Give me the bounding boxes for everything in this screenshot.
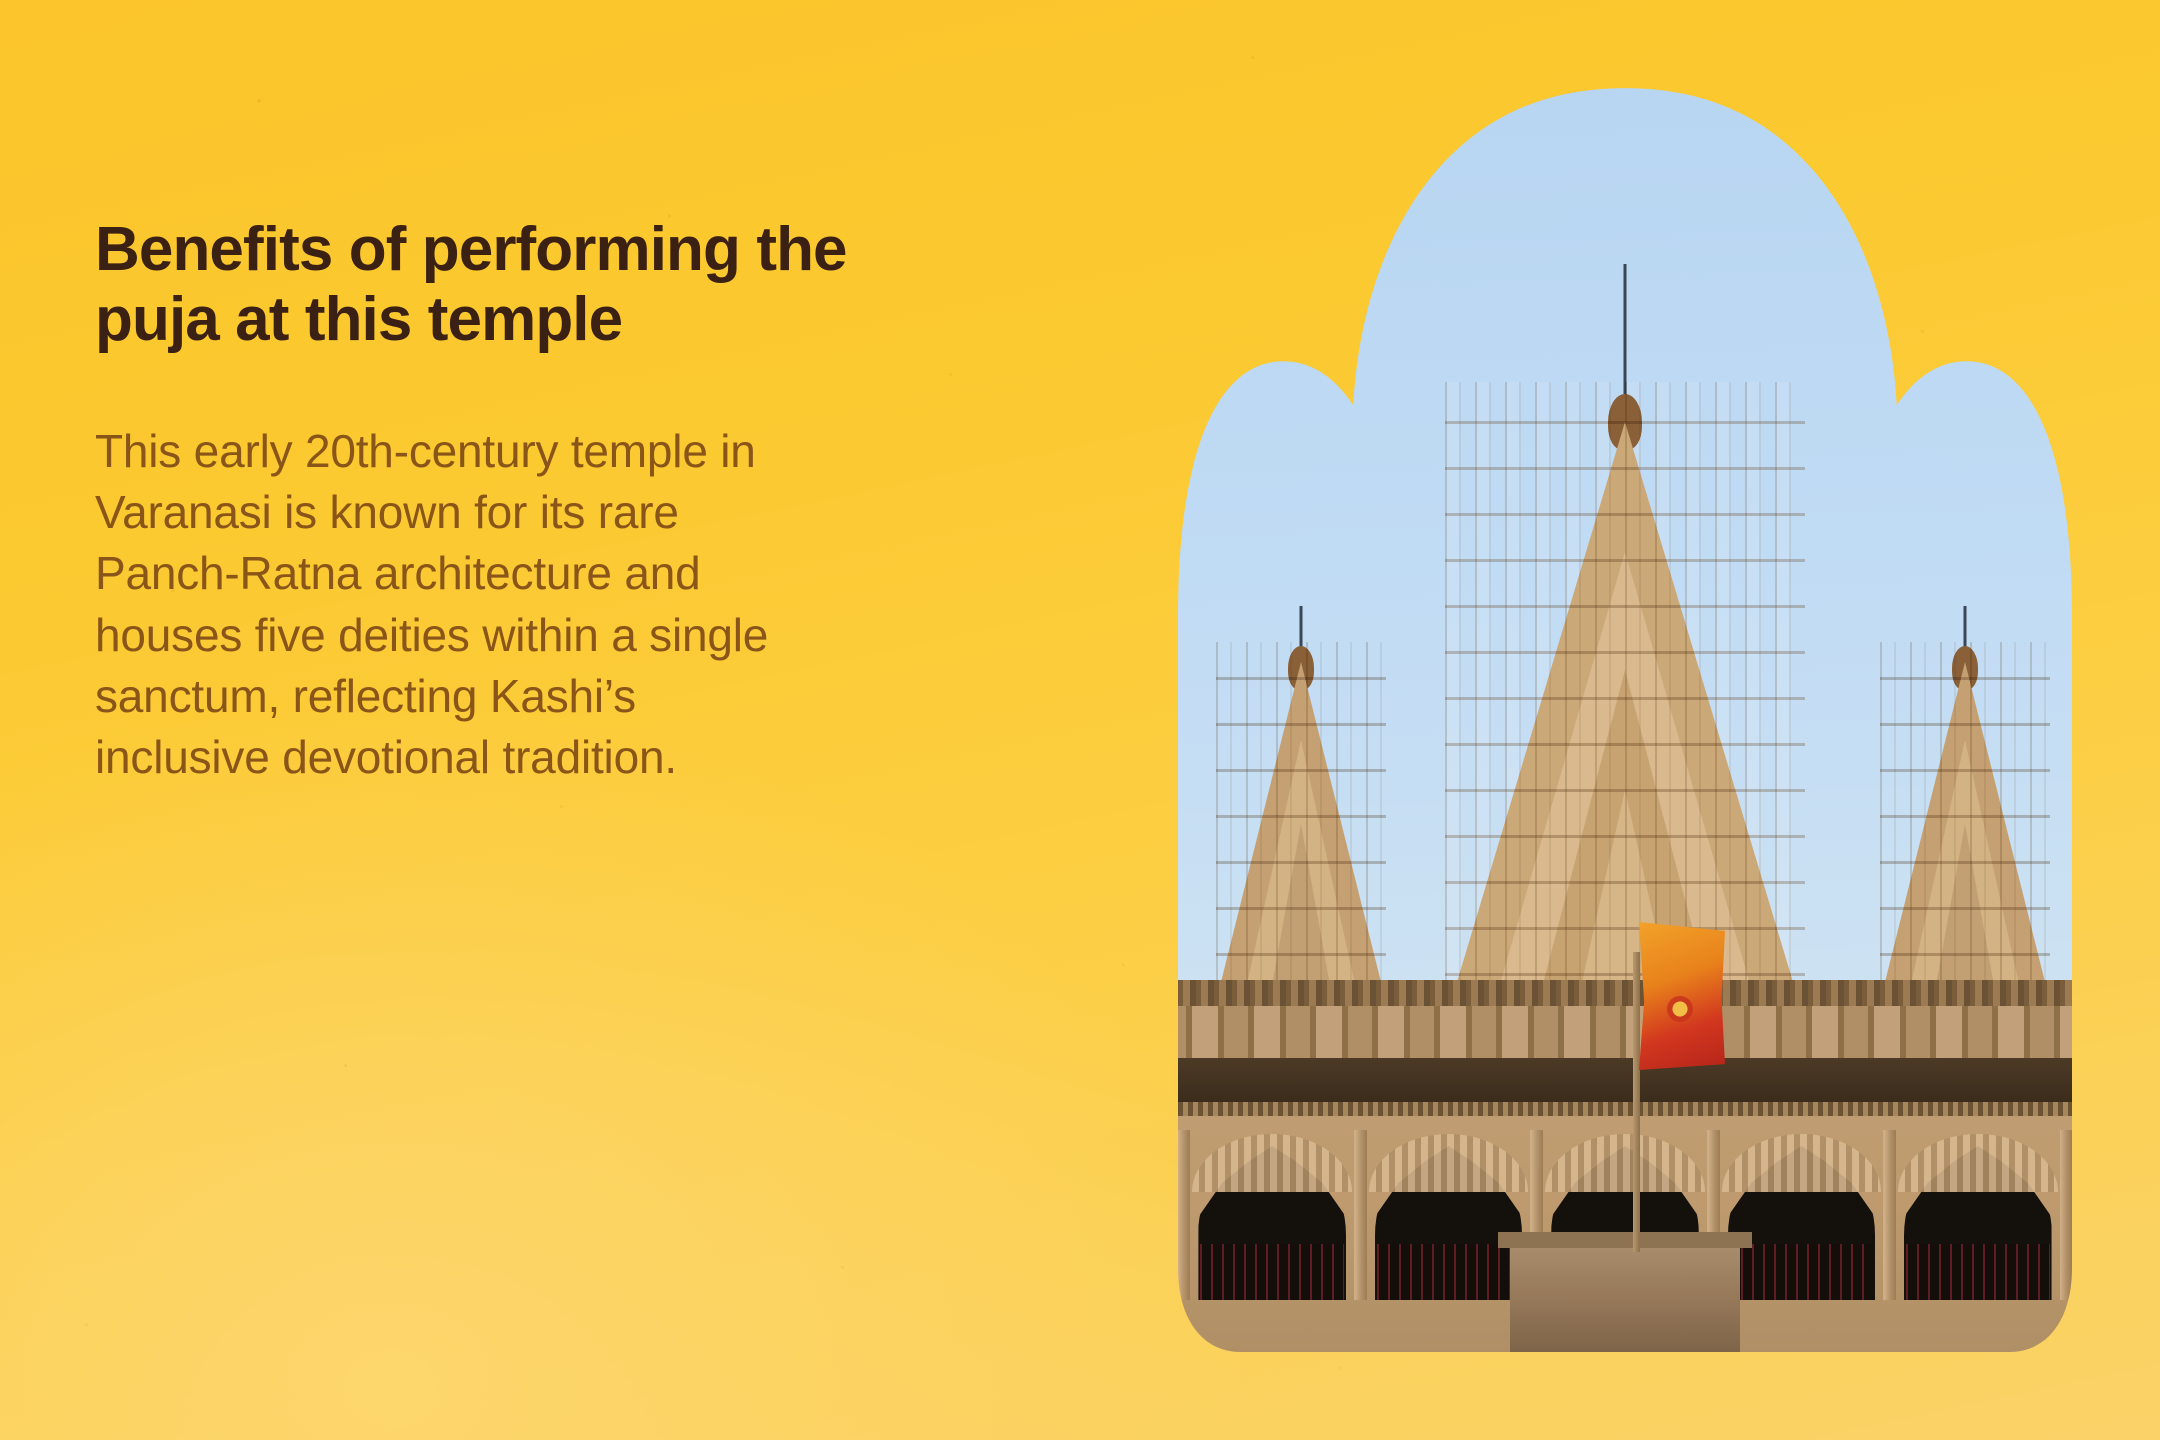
arch-trim [1192,1134,1352,1192]
temple-photo-frame [1178,62,2072,1352]
balcony-grille [1200,1244,1344,1300]
facade-shadow-band [1178,1058,2072,1102]
temple-photo-clip [1178,62,2072,1352]
pilaster [2060,1130,2072,1300]
central-shikhara [1445,382,1805,1022]
flag-emblem-icon [1667,996,1693,1022]
shikhara-body [1445,382,1805,1022]
balcony-cap [1498,1232,1752,1248]
pilaster [1178,1130,1190,1300]
central-balcony [1510,1232,1740,1352]
pilaster [1355,1130,1367,1300]
arch-trim [1545,1134,1705,1192]
balcony-grille [1377,1244,1521,1300]
arch-bay [1718,1130,1886,1300]
temple-photo [1178,62,2072,1352]
arch-trim [1722,1134,1882,1192]
spire-cone-left-inner [1269,824,1333,1002]
facade-cornice [1178,980,2072,1006]
temple-facade [1178,980,2072,1352]
flag-pole [1633,952,1640,1252]
balcony-grille [1730,1244,1874,1300]
pilaster [1884,1130,1896,1300]
arch-trim [1898,1134,2058,1192]
temple-illustration [1178,62,2072,1352]
arch-bay [1365,1130,1533,1300]
arch-bay [1894,1130,2062,1300]
facade-dentil-moulding [1178,1102,2072,1116]
arch-bay [1188,1130,1356,1300]
page-title: Benefits of performing the puja at this … [95,215,895,355]
text-column: Benefits of performing the puja at this … [95,215,895,788]
shikhara-needle-icon [1624,264,1627,414]
balcony-grille [1906,1244,2050,1300]
facade-carved-band [1178,1006,2072,1058]
arch-trim [1369,1134,1529,1192]
spire-cone-right-inner [1933,824,1997,1002]
body-paragraph: This early 20th-century temple in Varana… [95,421,795,788]
side-spire-left [1216,642,1386,1002]
side-spire-right [1880,642,2050,1002]
